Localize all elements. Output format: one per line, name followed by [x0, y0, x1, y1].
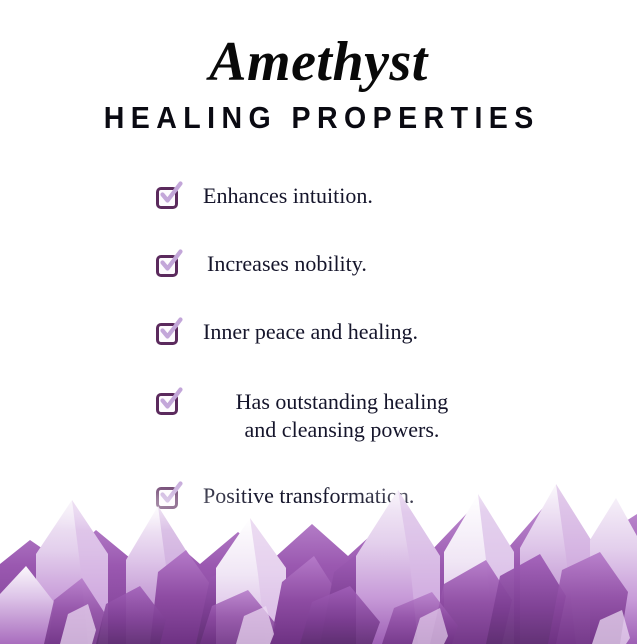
crystal-silhouette	[0, 444, 637, 644]
list-item-label: Inner peace and healing.	[156, 318, 586, 346]
list-item[interactable]: Increases nobility.	[156, 250, 586, 284]
heading-block: Amethyst HEALING PROPERTIES	[0, 34, 637, 133]
checkbox-checked-icon[interactable]	[156, 323, 178, 345]
list-item-label: Enhances intuition.	[156, 182, 586, 210]
page-title: Amethyst	[0, 34, 637, 90]
checkbox-checked-icon[interactable]	[156, 255, 178, 277]
amethyst-crystal-cluster-photo	[0, 444, 637, 644]
poster-canvas: Amethyst HEALING PROPERTIES Enhances int…	[0, 0, 637, 644]
list-item-label: Has outstanding healing and cleansing po…	[156, 388, 487, 444]
checkbox-checked-icon[interactable]	[156, 393, 178, 415]
list-item-label: Increases nobility.	[156, 250, 586, 278]
list-item[interactable]: Inner peace and healing.	[156, 318, 586, 352]
list-item[interactable]: Enhances intuition.	[156, 182, 586, 216]
list-item[interactable]: Has outstanding healing and cleansing po…	[156, 388, 586, 444]
checkbox-checked-icon[interactable]	[156, 187, 178, 209]
page-subtitle: HEALING PROPERTIES	[25, 102, 611, 133]
